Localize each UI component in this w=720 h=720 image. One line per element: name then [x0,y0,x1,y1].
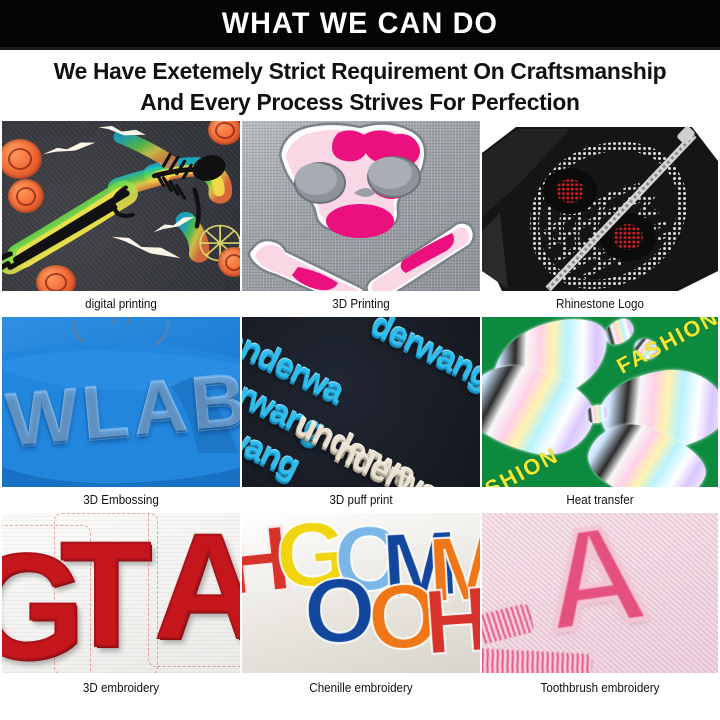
caption-3d-printing: 3D Printing [250,291,471,317]
caption-rhinestone-logo: Rhinestone Logo [490,291,709,317]
thumbnail-3d-embroidery[interactable]: G T A [2,513,240,673]
grid-cell-chenille-embroidery[interactable]: H G C O M O M H Chenille embroidery [242,513,480,701]
caption-3d-puff-print: 3D puff print [250,487,471,513]
grid-row: digital printing [2,121,718,317]
grid-cell-heat-transfer[interactable]: FASHION FASHION Heat transfer [482,317,718,513]
thumbnail-3d-printing[interactable] [242,121,480,291]
thumbnail-rhinestone-logo[interactable] [482,121,718,291]
grid-cell-3d-embossing[interactable]: WLAB 3D Embossing [2,317,240,513]
thumbnail-3d-embossing[interactable]: WLAB [2,317,240,487]
caption-toothbrush-embroidery: Toothbrush embroidery [490,673,709,701]
rhinestone-skull-icon [482,121,718,291]
thumbnail-toothbrush-embroidery[interactable]: A [482,513,718,673]
thumbnail-3d-puff-print[interactable]: xanderwa nderwang derwang underwa nderwa… [242,317,480,487]
embroidery-letter: T [60,519,152,669]
caption-chenille-embroidery: Chenille embroidery [250,673,471,701]
grid-row: G T A 3D embroidery H G C O M O M H [2,513,718,701]
infographic-page: WHAT WE CAN DO We Have Exetemely Strict … [0,0,720,720]
grid-cell-toothbrush-embroidery[interactable]: A Toothbrush embroidery [482,513,718,701]
header-banner: WHAT WE CAN DO [0,0,720,47]
toothbrush-letter: A [535,513,655,653]
thumbnail-chenille-embroidery[interactable]: H G C O M O M H [242,513,480,673]
embroidery-letter: A [154,513,240,661]
caption-3d-embossing: 3D Embossing [10,487,231,513]
caption-digital-printing: digital printing [10,291,231,317]
thumbnail-digital-printing[interactable] [2,121,240,291]
subtitle-block: We Have Exetemely Strict Requirement On … [0,50,720,121]
rose-motif [8,179,44,213]
grid-cell-3d-puff-print[interactable]: xanderwa nderwang derwang underwa nderwa… [242,317,480,513]
skull-crossbones-icon [242,121,480,291]
subtitle-line-1: We Have Exetemely Strict Requirement On … [15,56,706,87]
subtitle-line-2: And Every Process Strives For Perfection [15,87,706,118]
grid-cell-digital-printing[interactable]: digital printing [2,121,240,317]
chenille-letter: H [421,573,480,669]
page-title: WHAT WE CAN DO [222,7,498,41]
grid-cell-3d-embroidery[interactable]: G T A 3D embroidery [2,513,240,701]
caption-3d-embroidery: 3D embroidery [10,673,231,701]
caption-heat-transfer: Heat transfer [490,487,709,513]
grid-cell-rhinestone-logo[interactable]: Rhinestone Logo [482,121,718,317]
rose-motif [36,265,76,291]
grid-row: WLAB 3D Embossing xanderwa nderwang derw… [2,317,718,513]
process-grid: digital printing [0,121,720,701]
grid-cell-3d-printing[interactable]: 3D Printing [242,121,480,317]
thumbnail-heat-transfer[interactable]: FASHION FASHION [482,317,718,487]
